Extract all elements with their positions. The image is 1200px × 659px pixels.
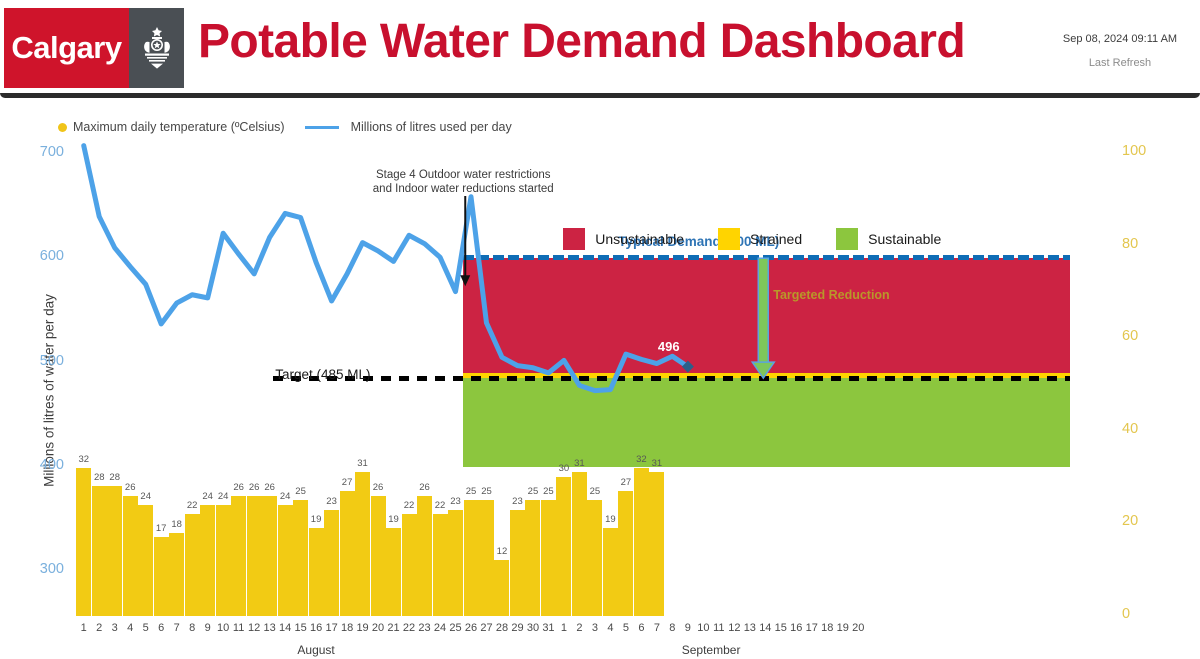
y-axis-left-tick: 700: [24, 144, 64, 160]
y-axis-left: 300400500600700: [20, 98, 64, 659]
y-axis-right-tick: 80: [1122, 236, 1162, 252]
header: Calgary: [0, 0, 1200, 96]
chart-area: Maximum daily temperature (ºCelsius) Mil…: [0, 98, 1200, 659]
logo-text: Calgary: [11, 30, 121, 66]
y-axis-right-tick: 60: [1122, 328, 1162, 344]
x-axis-tick: 20: [845, 622, 871, 634]
targeted-reduction-arrow-head-icon: [752, 362, 774, 378]
x-axis-month-label: August: [256, 643, 376, 657]
logo-crest-block: [129, 8, 184, 88]
calgary-logo: Calgary: [4, 8, 184, 88]
refresh-caption: Last Refresh: [1050, 57, 1190, 69]
y-axis-right: 020406080100: [1122, 98, 1166, 659]
x-axis-month-label: September: [651, 643, 771, 657]
logo-wordmark: Calgary: [4, 8, 129, 88]
last-value-label: 496: [658, 339, 680, 354]
page-title: Potable Water Demand Dashboard: [198, 14, 965, 69]
dashboard-root: Calgary: [0, 0, 1200, 659]
demand-line-overlay: [66, 98, 1112, 659]
demand-line: [84, 146, 688, 391]
refresh-timestamp: Sep 08, 2024 09:11 AM: [1050, 33, 1190, 45]
y-axis-left-tick: 500: [24, 353, 64, 369]
plot-region: Typical Demand (600 ML) Target (485 ML) …: [66, 98, 1112, 659]
y-axis-left-tick: 600: [24, 248, 64, 264]
y-axis-left-tick: 400: [24, 457, 64, 473]
targeted-reduction-arrow-shaft: [758, 258, 768, 364]
stage4-arrow-head-icon: [460, 275, 470, 286]
y-axis-right-tick: 40: [1122, 421, 1162, 437]
y-axis-right-tick: 100: [1122, 143, 1162, 159]
y-axis-right-tick: 20: [1122, 513, 1162, 529]
y-axis-left-tick: 300: [24, 561, 64, 577]
coat-of-arms-crest-icon: [139, 25, 175, 71]
y-axis-right-tick: 0: [1122, 606, 1162, 622]
